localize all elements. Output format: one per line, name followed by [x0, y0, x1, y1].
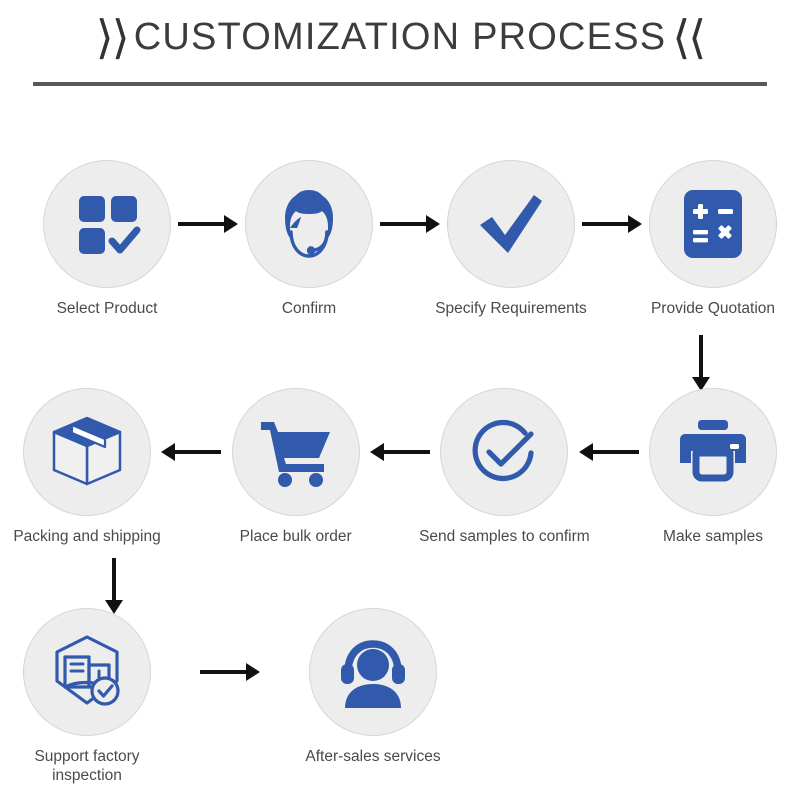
headset-support-icon: [334, 636, 412, 708]
icon-circle: [309, 608, 437, 736]
flow-step-confirm[interactable]: Confirm: [242, 160, 376, 318]
flow-step-label: Send samples to confirm: [419, 527, 590, 546]
flow-step-label: Make samples: [663, 527, 763, 546]
flow-step-label: Provide Quotation: [651, 299, 775, 318]
flow-row-1: Select Product Confirm: [40, 160, 780, 318]
shopping-cart-icon: [258, 416, 334, 488]
flow-step-label: Confirm: [282, 299, 336, 318]
connector-arrow-right: [578, 160, 646, 288]
connector-arrow-right: [376, 160, 444, 288]
flow-step-make-samples[interactable]: Make samples: [646, 388, 780, 546]
icon-circle: [23, 608, 151, 736]
calculator-icon: [678, 187, 748, 261]
flow-step-after-sales-services[interactable]: After-sales services: [306, 608, 440, 766]
flow-row-3: Support factory inspection After-sales s…: [20, 608, 440, 786]
icon-circle: [232, 388, 360, 516]
connector-arrow-down-row2-row3: [105, 558, 123, 614]
factory-inspection-shield-icon: [47, 633, 127, 711]
connector-arrow-down-row1-row2: [692, 335, 710, 391]
flow-step-specify-requirements[interactable]: Specify Requirements: [444, 160, 578, 318]
icon-circle: [447, 160, 575, 288]
chevron-left-double-icon: ⟨⟨: [672, 14, 704, 60]
icon-circle: [440, 388, 568, 516]
flow-step-provide-quotation[interactable]: Provide Quotation: [646, 160, 780, 318]
icon-circle: [649, 160, 777, 288]
title-divider: [33, 82, 767, 86]
flow-step-send-samples-to-confirm[interactable]: Send samples to confirm: [437, 388, 571, 546]
printer-machine-icon: [675, 418, 751, 486]
title-line: ⟩⟩ CUSTOMIZATION PROCESS ⟨⟨: [0, 14, 800, 60]
flow-step-packing-and-shipping[interactable]: Packing and shipping: [20, 388, 154, 546]
flow-step-select-product[interactable]: Select Product: [40, 160, 174, 318]
flow-step-label: Support factory inspection: [12, 747, 162, 786]
flow-step-label: After-sales services: [305, 747, 440, 766]
check-circle-icon: [465, 413, 543, 491]
flow-step-label: Select Product: [57, 299, 158, 318]
chevron-right-double-icon: ⟩⟩: [96, 14, 128, 60]
flow-step-label: Packing and shipping: [13, 527, 160, 546]
connector-arrow-left: [571, 388, 646, 516]
checkmark-icon: [472, 185, 550, 263]
flow-step-label: Specify Requirements: [435, 299, 587, 318]
icon-circle: [43, 160, 171, 288]
icon-circle: [23, 388, 151, 516]
connector-arrow-right: [154, 608, 306, 736]
icon-circle: [245, 160, 373, 288]
connector-arrow-left: [154, 388, 229, 516]
connector-arrow-left: [363, 388, 438, 516]
icon-circle: [649, 388, 777, 516]
package-box-icon: [48, 414, 126, 490]
flow-step-label: Place bulk order: [240, 527, 352, 546]
flow-row-2: Packing and shipping Place bulk order: [20, 388, 780, 546]
flow-step-place-bulk-order[interactable]: Place bulk order: [229, 388, 363, 546]
customer-service-agent-icon: [269, 184, 349, 264]
connector-arrow-right: [174, 160, 242, 288]
flow-step-support-factory-inspection[interactable]: Support factory inspection: [20, 608, 154, 786]
page-title: CUSTOMIZATION PROCESS: [134, 18, 667, 56]
grid-check-icon: [71, 188, 143, 260]
page-header: ⟩⟩ CUSTOMIZATION PROCESS ⟨⟨: [0, 0, 800, 86]
